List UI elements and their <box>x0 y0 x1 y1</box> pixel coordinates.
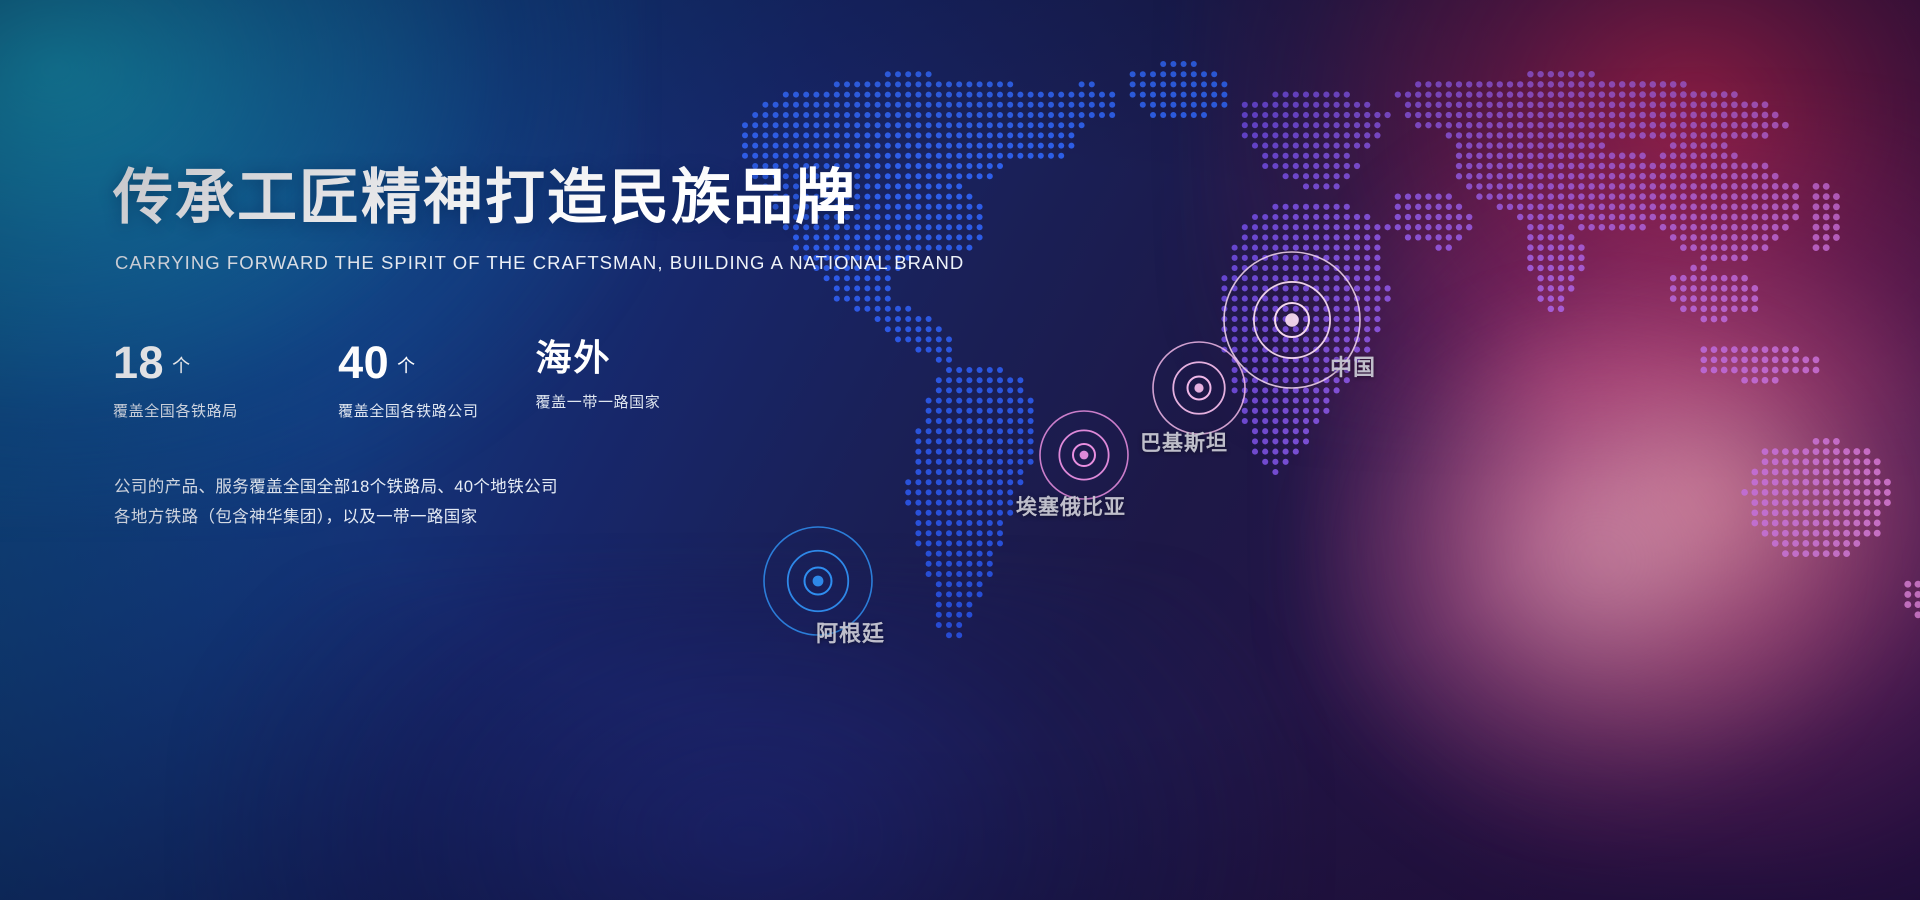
banner-hero: 中国巴基斯坦埃塞俄比亚阿根廷 传承工匠精神打造民族品牌 CARRYING FOR… <box>0 0 1920 900</box>
vignette-overlay <box>0 0 1920 900</box>
